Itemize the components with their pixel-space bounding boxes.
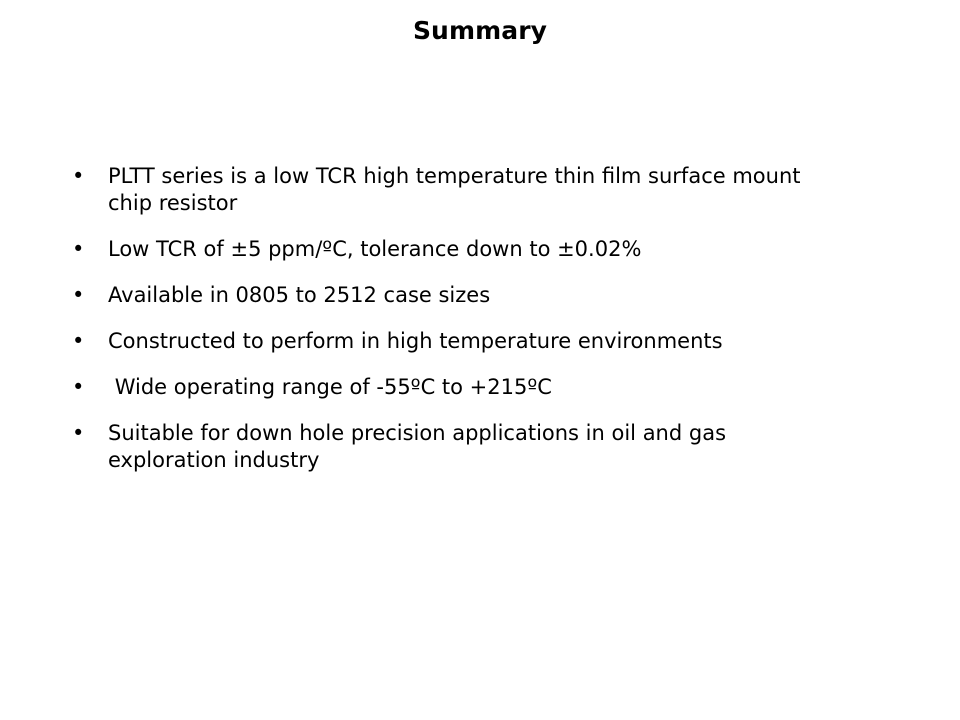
list-item: • Available in 0805 to 2512 case sizes (68, 282, 868, 309)
list-item: • Wide operating range of -55ºC to +215º… (68, 374, 868, 401)
bullet-point-icon: • (68, 282, 108, 309)
bullet-point-icon: • (68, 163, 108, 190)
bullet-point-icon: • (68, 328, 108, 355)
bullet-point-icon: • (68, 374, 108, 401)
list-item-text: PLTT series is a low TCR high temperatur… (108, 163, 830, 217)
bullet-point-icon: • (68, 236, 108, 263)
list-item-text: Low TCR of ±5 ppm/ºC, tolerance down to … (108, 236, 830, 263)
list-item: • Suitable for down hole precision appli… (68, 420, 868, 474)
list-item: • Low TCR of ±5 ppm/ºC, tolerance down t… (68, 236, 868, 263)
list-item-text: Suitable for down hole precision applica… (108, 420, 830, 474)
list-item-text: Available in 0805 to 2512 case sizes (108, 282, 830, 309)
bullet-list: • PLTT series is a low TCR high temperat… (68, 163, 868, 474)
bullet-point-icon: • (68, 420, 108, 447)
list-item-text: Constructed to perform in high temperatu… (108, 328, 830, 355)
list-item: • Constructed to perform in high tempera… (68, 328, 868, 355)
page-title: Summary (0, 16, 960, 46)
list-item: • PLTT series is a low TCR high temperat… (68, 163, 868, 217)
slide-canvas: Summary • PLTT series is a low TCR high … (0, 0, 960, 720)
list-item-text: Wide operating range of -55ºC to +215ºC (108, 374, 830, 401)
